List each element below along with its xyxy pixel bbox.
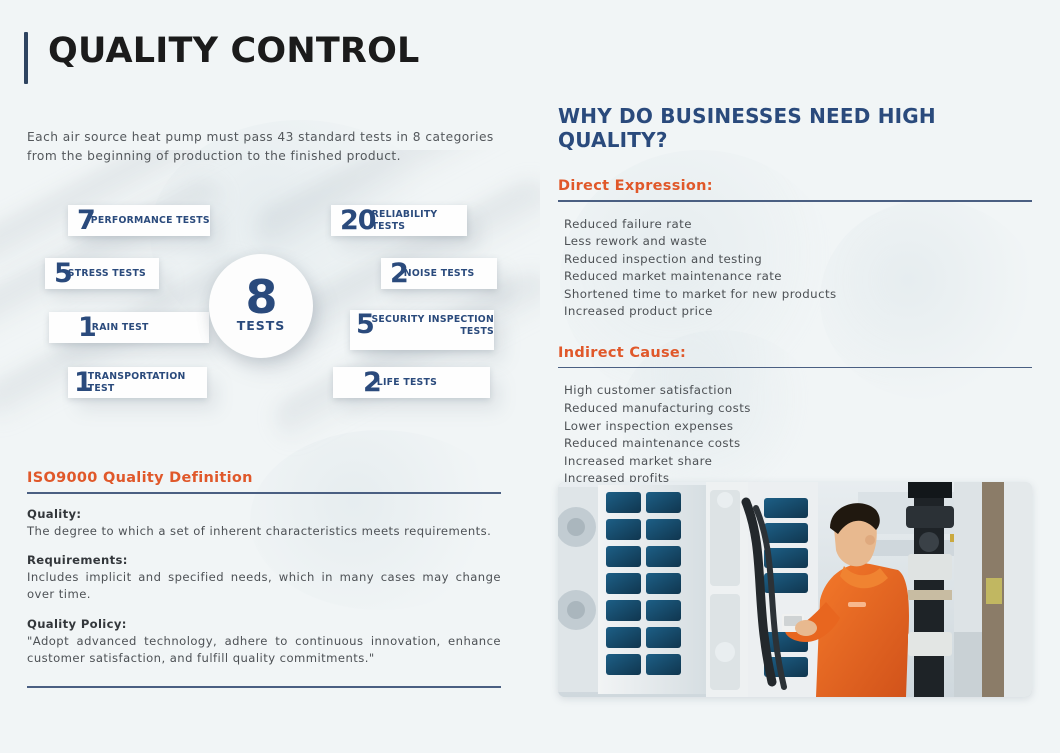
iso-item-quality-policy: Quality Policy: "Adopt advanced technolo… bbox=[27, 617, 501, 668]
badge-stress-tests: 5 STRESS TESTS bbox=[45, 258, 159, 289]
list-item: Increased product price bbox=[564, 303, 1032, 321]
iso-bottom-rule bbox=[27, 686, 501, 688]
badge-life-tests: 2 LIFE TESTS bbox=[333, 367, 490, 398]
technician-photo bbox=[558, 482, 1032, 697]
page-title: QUALITY CONTROL bbox=[48, 34, 420, 69]
direct-expression-rule bbox=[558, 200, 1032, 202]
indirect-cause-rule bbox=[558, 367, 1032, 369]
iso-item-requirements: Requirements: Includes implicit and spec… bbox=[27, 553, 501, 604]
badge-transportation-test: 1 TRANSPORTATION TEST bbox=[68, 367, 207, 398]
indirect-cause-list: High customer satisfaction Reduced manuf… bbox=[558, 382, 1032, 487]
total-tests-circle: 8 TESTS bbox=[209, 254, 313, 358]
list-item: Less rework and waste bbox=[564, 233, 1032, 251]
intro-paragraph: Each air source heat pump must pass 43 s… bbox=[27, 128, 507, 166]
badge-label: TRANSPORTATION TEST bbox=[88, 371, 207, 394]
badge-label: NOISE TESTS bbox=[404, 268, 475, 280]
list-item: Increased market share bbox=[564, 453, 1032, 471]
direct-expression-block: Direct Expression: Reduced failure rate … bbox=[558, 178, 1032, 321]
badge-reliability-tests: 20 RELIABILITY TESTS bbox=[331, 205, 467, 236]
total-tests-number: 8 bbox=[245, 279, 276, 317]
badge-noise-tests: 2 NOISE TESTS bbox=[381, 258, 497, 289]
iso-heading-rule bbox=[27, 492, 501, 494]
list-item: Reduced inspection and testing bbox=[564, 251, 1032, 269]
iso-section: ISO9000 Quality Definition Quality: The … bbox=[27, 470, 501, 688]
iso-term: Quality Policy: bbox=[27, 617, 501, 631]
list-item: Shortened time to market for new product… bbox=[564, 286, 1032, 304]
indirect-cause-block: Indirect Cause: High customer satisfacti… bbox=[558, 345, 1032, 488]
list-item: Reduced failure rate bbox=[564, 216, 1032, 234]
list-item: Reduced maintenance costs bbox=[564, 435, 1032, 453]
badge-label: PERFORMANCE TESTS bbox=[91, 215, 210, 227]
direct-expression-list: Reduced failure rate Less rework and was… bbox=[558, 216, 1032, 321]
badge-performance-tests: 7 PERFORMANCE TESTS bbox=[68, 205, 210, 236]
list-item: Lower inspection expenses bbox=[564, 418, 1032, 436]
iso-definition: Includes implicit and specified needs, w… bbox=[27, 569, 501, 604]
iso-term: Requirements: bbox=[27, 553, 501, 567]
iso-term: Quality: bbox=[27, 507, 501, 521]
indirect-cause-heading: Indirect Cause: bbox=[558, 345, 1032, 367]
iso-definition: "Adopt advanced technology, adhere to co… bbox=[27, 633, 501, 668]
badge-label: LIFE TESTS bbox=[377, 377, 437, 389]
right-column-title: WHY DO BUSINESSES NEED HIGH QUALITY? bbox=[558, 104, 1032, 152]
iso-heading: ISO9000 Quality Definition bbox=[27, 470, 501, 492]
total-tests-label: TESTS bbox=[237, 318, 286, 333]
list-item: Reduced manufacturing costs bbox=[564, 400, 1032, 418]
badge-label: RAIN TEST bbox=[92, 322, 149, 334]
badge-label: STRESS TESTS bbox=[68, 268, 146, 280]
iso-definition: The degree to which a set of inherent ch… bbox=[27, 523, 501, 540]
badge-number: 20 bbox=[340, 210, 376, 232]
right-column: WHY DO BUSINESSES NEED HIGH QUALITY? Dir… bbox=[558, 104, 1032, 488]
badge-security-inspection-tests: 5 SECURITY INSPECTION TESTS bbox=[350, 310, 494, 350]
quality-control-page: QUALITY CONTROL Each air source heat pum… bbox=[0, 0, 1060, 753]
page-header: QUALITY CONTROL bbox=[24, 32, 420, 84]
list-item: High customer satisfaction bbox=[564, 382, 1032, 400]
badge-label: SECURITY INSPECTION TESTS bbox=[370, 314, 494, 337]
title-accent-bar bbox=[24, 32, 28, 84]
iso-item-quality: Quality: The degree to which a set of in… bbox=[27, 507, 501, 540]
direct-expression-heading: Direct Expression: bbox=[558, 178, 1032, 200]
list-item: Reduced market maintenance rate bbox=[564, 268, 1032, 286]
badge-rain-test: 1 RAIN TEST bbox=[49, 312, 209, 343]
badge-label: RELIABILITY TESTS bbox=[372, 209, 467, 232]
technician-photo-illustration bbox=[558, 482, 1032, 697]
